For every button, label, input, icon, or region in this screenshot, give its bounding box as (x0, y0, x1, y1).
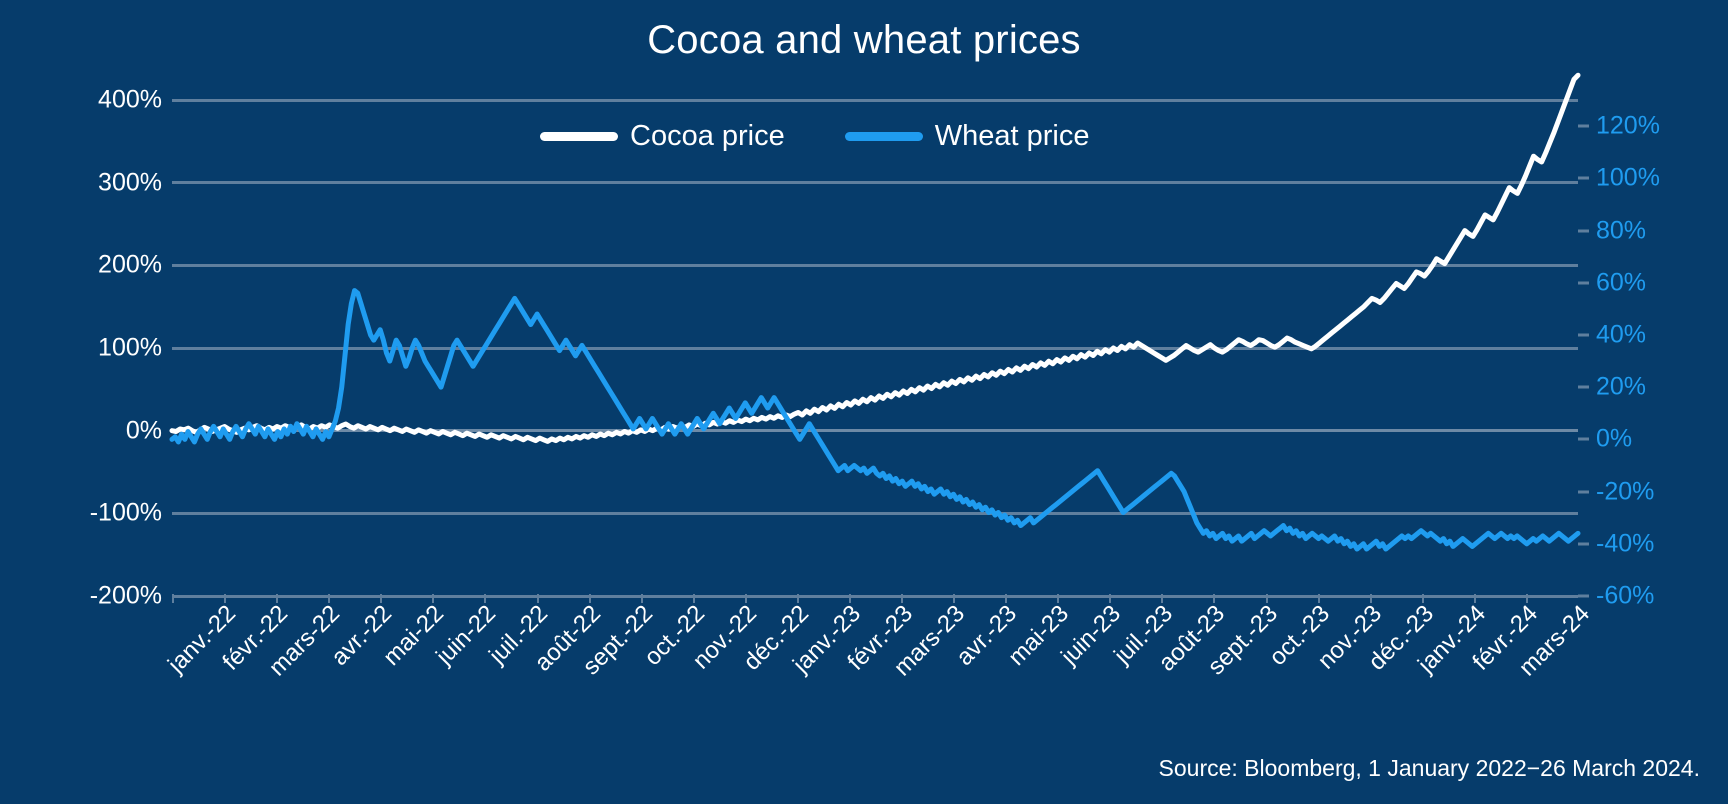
y-axis-right-tickmark (1578, 281, 1589, 284)
x-axis-tickmark (1109, 594, 1111, 603)
chart-title: Cocoa and wheat prices (0, 18, 1728, 63)
x-axis-tickmark (172, 594, 174, 603)
x-axis-tickmark (1005, 594, 1007, 603)
y-axis-right-tickmark (1578, 229, 1589, 232)
y-axis-right-tick: 100% (1596, 164, 1660, 193)
plot-area (172, 100, 1578, 596)
x-axis-labels: janv.-22févr.-22mars-22avr.-22mai-22juin… (172, 600, 1578, 720)
x-axis-tickmark (1161, 594, 1163, 603)
y-axis-right-tickmark (1578, 177, 1589, 180)
y-axis-right-tick: 80% (1596, 216, 1646, 245)
y-axis-right-tick: 120% (1596, 112, 1660, 141)
x-axis-tickmark (797, 594, 799, 603)
y-axis-left-tick: -200% (90, 582, 162, 611)
y-axis-left-tick: 100% (98, 334, 162, 363)
y-axis-right-tickmark (1578, 333, 1589, 336)
y-axis-right-tick: 0% (1596, 425, 1632, 454)
series-layer (172, 100, 1578, 596)
y-axis-right-tick: 60% (1596, 268, 1646, 297)
x-axis-tickmark (537, 594, 539, 603)
x-axis-tickmark (328, 594, 330, 603)
y-axis-right-tick: 40% (1596, 320, 1646, 349)
x-axis-tickmark (953, 594, 955, 603)
y-axis-right-tick: -40% (1596, 529, 1654, 558)
x-axis-tickmark (693, 594, 695, 603)
y-axis-left-tick: 0% (126, 416, 162, 445)
x-axis-tickmark (276, 594, 278, 603)
y-axis-left-tick: 300% (98, 168, 162, 197)
y-axis-right-tickmark (1578, 438, 1589, 441)
x-axis-tickmark (432, 594, 434, 603)
y-axis-right-tick: 20% (1596, 373, 1646, 402)
y-axis-right-tick: -20% (1596, 477, 1654, 506)
chart-container: Cocoa and wheat prices Cocoa price Wheat… (0, 0, 1728, 804)
x-axis-tickmark (1474, 594, 1476, 603)
x-axis-tickmark (901, 594, 903, 603)
y-axis-left-tick: 200% (98, 251, 162, 280)
x-axis-tickmark (849, 594, 851, 603)
x-axis-tickmark (589, 594, 591, 603)
y-axis-right-tickmark (1578, 386, 1589, 389)
x-axis-tick-label: juin-23 (1056, 600, 1127, 671)
series-line-cocoa-price (172, 75, 1578, 441)
y-axis-left-tick: 400% (98, 86, 162, 115)
x-axis-tick-label: juin-22 (431, 600, 502, 671)
x-axis-tickmark (380, 594, 382, 603)
y-axis-right-tickmark (1578, 542, 1589, 545)
x-axis-tickmark (224, 594, 226, 603)
y-axis-right-tickmark (1578, 595, 1589, 598)
y-axis-left-tick: -100% (90, 499, 162, 528)
y-axis-right-tickmark (1578, 125, 1589, 128)
x-axis-tickmark (1370, 594, 1372, 603)
y-axis-right-tickmark (1578, 490, 1589, 493)
x-axis-tickmark (1422, 594, 1424, 603)
x-axis-tickmark (484, 594, 486, 603)
y-axis-right-tick: -60% (1596, 582, 1654, 611)
source-note: Source: Bloomberg, 1 January 2022−26 Mar… (1159, 755, 1700, 782)
series-line-wheat-price (172, 291, 1578, 549)
x-axis-tickmark (1318, 594, 1320, 603)
x-axis-tickmark (641, 594, 643, 603)
x-axis-tickmark (1057, 594, 1059, 603)
x-axis-tickmark (1266, 594, 1268, 603)
x-axis-tickmark (745, 594, 747, 603)
x-axis-tickmark (1213, 594, 1215, 603)
x-axis-tickmark (1526, 594, 1528, 603)
